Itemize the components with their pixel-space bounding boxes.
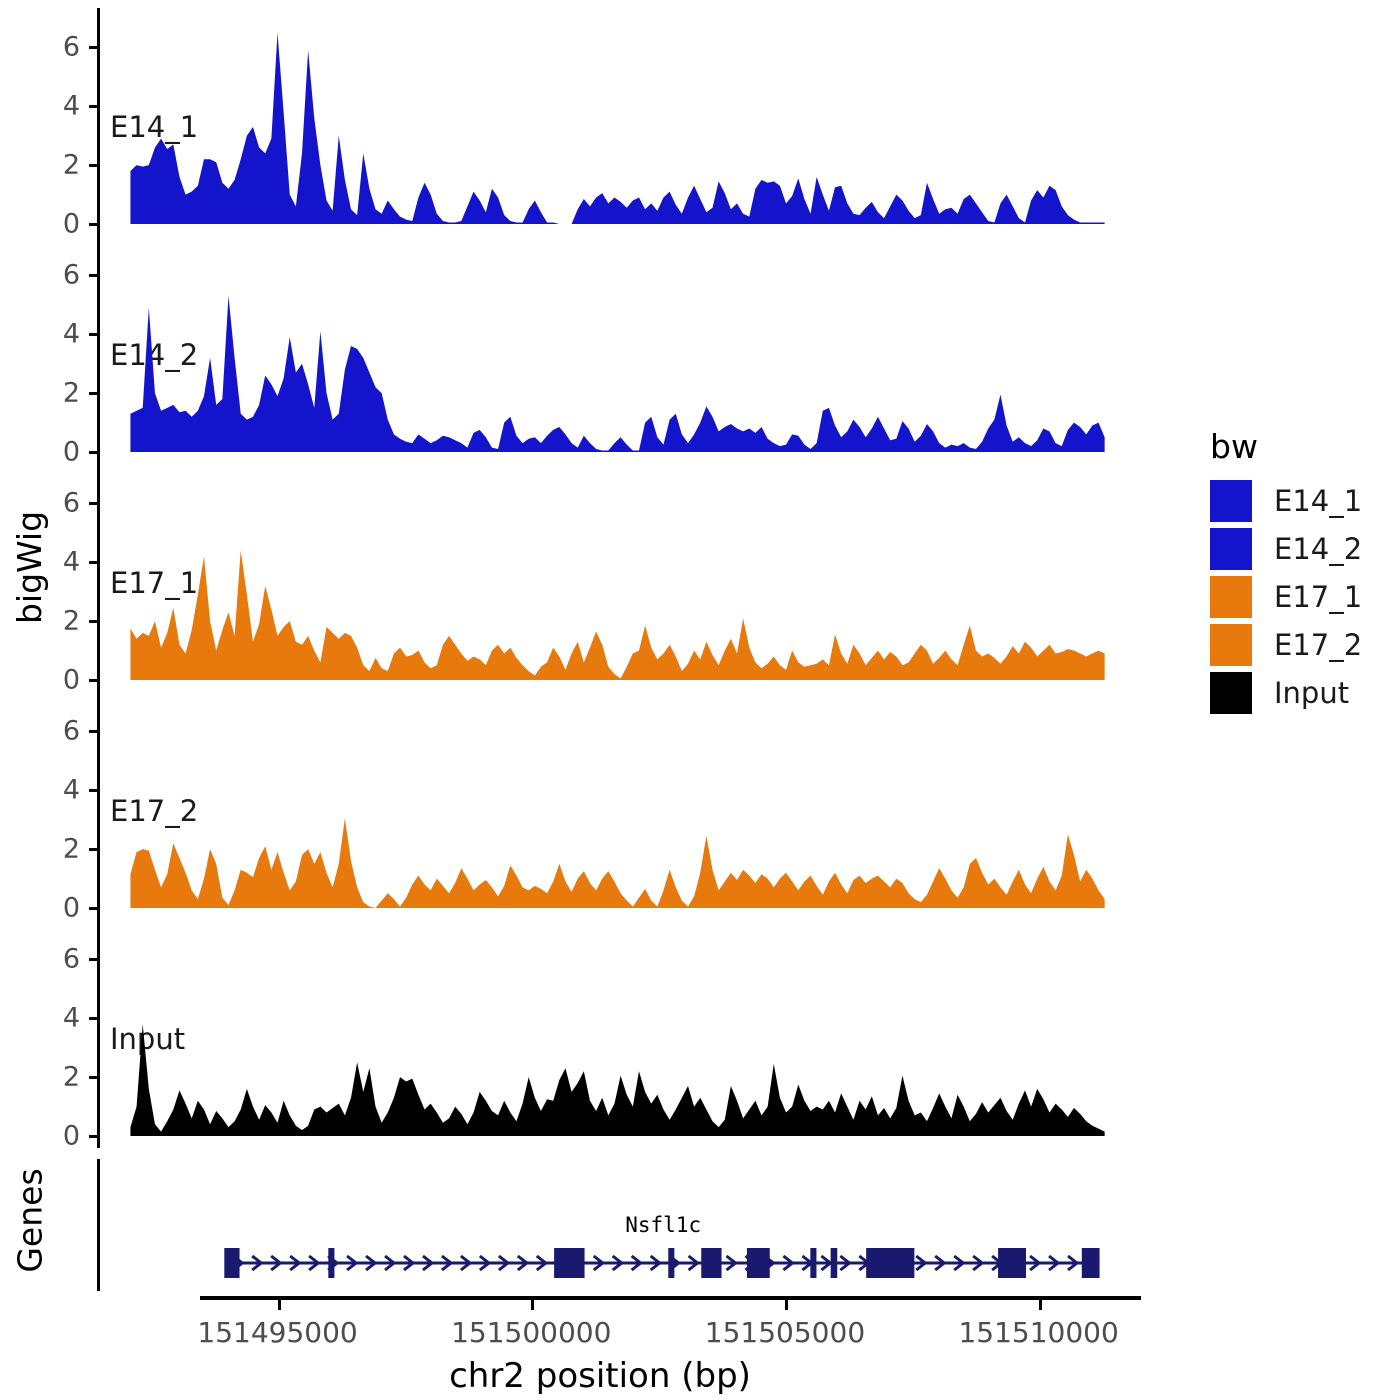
y-tick	[89, 1135, 98, 1138]
y-tick	[89, 105, 98, 108]
y-tick-label: 0	[40, 665, 80, 696]
genes-axis-title: Genes	[0, 1145, 60, 1295]
figure-root: bigWig Genes 0246E14_10246E14_20246E17_1…	[0, 0, 1400, 1400]
track-area-e17_1	[100, 464, 1130, 692]
x-axis-title: chr2 position (bp)	[0, 1356, 1200, 1396]
y-tick	[89, 164, 98, 167]
y-tick	[89, 1076, 98, 1079]
area-path	[130, 296, 1104, 452]
y-tick	[89, 620, 98, 623]
y-tick	[89, 789, 98, 792]
exon-box	[328, 1248, 334, 1278]
legend-color-swatch	[1210, 624, 1252, 666]
legend-color-swatch	[1210, 528, 1252, 570]
x-tick-label: 151505000	[705, 1316, 865, 1349]
y-tick	[89, 392, 98, 395]
y-tick	[89, 333, 98, 336]
y-tick	[89, 958, 98, 961]
y-tick	[89, 848, 98, 851]
y-tick-label: 4	[40, 547, 80, 578]
y-tick	[89, 730, 98, 733]
exon-box	[810, 1248, 816, 1278]
y-tick-label: 4	[40, 775, 80, 806]
legend-item-label: E14_1	[1274, 484, 1362, 518]
exon-box	[747, 1248, 770, 1278]
y-tick-label: 0	[40, 209, 80, 240]
y-tick	[89, 274, 98, 277]
legend-item-e17_2[interactable]: E17_2	[1210, 621, 1395, 669]
track-panel-e14_1: 0246E14_1	[62, 8, 1132, 236]
y-tick-label: 4	[40, 319, 80, 350]
track-panel-e17_1: 0246E17_1	[62, 464, 1132, 692]
legend-item-e14_2[interactable]: E14_2	[1210, 525, 1395, 573]
y-tick	[89, 223, 98, 226]
y-tick	[89, 679, 98, 682]
area-path	[130, 33, 1104, 224]
legend-item-e14_1[interactable]: E14_1	[1210, 477, 1395, 525]
exon-box	[224, 1248, 239, 1278]
y-tick-label: 6	[40, 488, 80, 519]
exon-box	[831, 1248, 838, 1278]
y-tick-label: 2	[40, 606, 80, 637]
y-tick-label: 2	[40, 150, 80, 181]
legend-item-label: E14_2	[1274, 532, 1362, 566]
y-tick	[89, 561, 98, 564]
legend-color-swatch	[1210, 480, 1252, 522]
y-tick-label: 4	[40, 1003, 80, 1034]
y-tick	[89, 502, 98, 505]
legend-title: bw	[1210, 430, 1395, 463]
x-tick-label: 151495000	[197, 1316, 357, 1349]
x-axis-line	[200, 1296, 1141, 1300]
exon-box	[998, 1248, 1026, 1278]
x-tick	[278, 1300, 281, 1310]
track-area-e14_2	[100, 236, 1130, 464]
gene-track-panel: Nsfl1c	[62, 1155, 1132, 1295]
legend-item-label: E17_2	[1274, 628, 1362, 662]
track-panel-e17_2: 0246E17_2	[62, 692, 1132, 920]
track-panel-input: 0246Input	[62, 920, 1132, 1148]
x-tick	[785, 1300, 788, 1310]
y-tick-label: 4	[40, 91, 80, 122]
x-tick	[531, 1300, 534, 1310]
y-tick-label: 2	[40, 834, 80, 865]
y-tick	[89, 907, 98, 910]
y-tick-label: 0	[40, 893, 80, 924]
y-tick-label: 6	[40, 716, 80, 747]
area-path	[130, 1024, 1104, 1136]
legend-item-input[interactable]: Input	[1210, 669, 1395, 717]
area-path	[130, 818, 1104, 908]
track-panel-e14_2: 0246E14_2	[62, 236, 1132, 464]
x-tick-label: 151500000	[451, 1316, 611, 1349]
track-area-input	[100, 920, 1130, 1148]
y-tick-label: 0	[40, 1121, 80, 1152]
x-tick-label: 151510000	[958, 1316, 1118, 1349]
exon-box	[701, 1248, 721, 1278]
y-tick	[89, 46, 98, 49]
y-tick	[89, 451, 98, 454]
legend-color-swatch	[1210, 576, 1252, 618]
y-tick-label: 6	[40, 260, 80, 291]
genes-axis-title-text: Genes	[11, 1168, 50, 1272]
exon-box	[866, 1248, 914, 1278]
x-tick	[1039, 1300, 1042, 1310]
gene-model-svg	[100, 1155, 1130, 1295]
area-path	[130, 551, 1104, 680]
y-tick-label: 2	[40, 1062, 80, 1093]
y-tick-label: 0	[40, 437, 80, 468]
exon-box	[554, 1248, 584, 1278]
y-tick	[89, 1017, 98, 1020]
y-tick-label: 6	[40, 944, 80, 975]
track-area-e14_1	[100, 8, 1130, 236]
legend-item-label: Input	[1274, 676, 1349, 710]
legend: bw E14_1E14_2E17_1E17_2Input	[1210, 430, 1395, 717]
legend-item-label: E17_1	[1274, 580, 1362, 614]
y-tick-label: 6	[40, 32, 80, 63]
exon-box	[1082, 1248, 1100, 1278]
legend-items: E14_1E14_2E17_1E17_2Input	[1210, 477, 1395, 717]
legend-item-e17_1[interactable]: E17_1	[1210, 573, 1395, 621]
exon-box	[668, 1248, 674, 1278]
y-tick-label: 2	[40, 378, 80, 409]
legend-color-swatch	[1210, 672, 1252, 714]
track-area-e17_2	[100, 692, 1130, 920]
